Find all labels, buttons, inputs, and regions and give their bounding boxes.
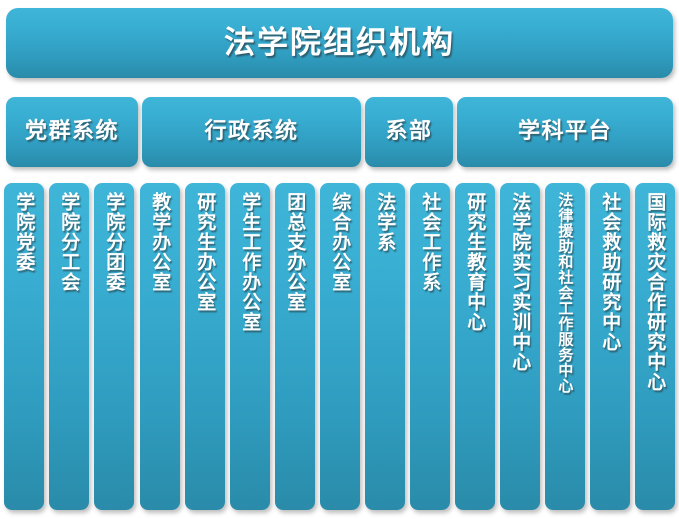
unit-column[interactable]: 学院分团委 [94,183,134,510]
unit-column[interactable]: 国际救灾合作研究中心 [635,183,675,510]
chart-title-box: 法学院组织机构 [6,8,673,78]
category-box-xingzheng[interactable]: 行政系统 [142,97,361,167]
unit-column[interactable]: 法律援助和社会工作服务中心 [545,183,585,510]
unit-label: 研究生教育中心 [465,192,486,332]
category-box-xibu[interactable]: 系部 [365,97,453,167]
unit-column[interactable]: 研究生办公室 [185,183,225,510]
unit-label: 团总支办公室 [285,192,306,312]
unit-label: 法学系 [375,192,396,252]
category-box-dangqun[interactable]: 党群系统 [6,97,138,167]
unit-column[interactable]: 团总支办公室 [275,183,315,510]
unit-label: 学生工作办公室 [240,192,261,332]
unit-label: 社会工作系 [420,192,441,292]
unit-column[interactable]: 社会工作系 [410,183,450,510]
category-label: 行政系统 [204,121,298,143]
unit-label: 法学院实习实训中心 [510,192,531,372]
unit-column[interactable]: 教学办公室 [140,183,180,510]
unit-column[interactable]: 社会救助研究中心 [590,183,630,510]
unit-label: 研究生办公室 [195,192,216,312]
unit-label: 社会救助研究中心 [600,192,621,352]
category-label: 党群系统 [25,121,119,143]
org-chart: 法学院组织机构 党群系统 行政系统 系部 学科平台 学院党委 学院分工会 学院分… [0,0,679,519]
unit-label: 学院分工会 [59,192,80,292]
category-label: 学科平台 [518,121,612,143]
unit-column[interactable]: 学院党委 [4,183,44,510]
unit-column[interactable]: 学院分工会 [49,183,89,510]
unit-column[interactable]: 综合办公室 [320,183,360,510]
unit-column[interactable]: 法学系 [365,183,405,510]
page-title: 法学院组织机构 [224,28,455,59]
unit-column[interactable]: 学生工作办公室 [230,183,270,510]
unit-label: 国际救灾合作研究中心 [645,192,666,392]
unit-column[interactable]: 法学院实习实训中心 [500,183,540,510]
category-box-xuekepingtai[interactable]: 学科平台 [457,97,673,167]
category-label: 系部 [385,121,432,143]
unit-column[interactable]: 研究生教育中心 [455,183,495,510]
unit-label: 教学办公室 [150,192,171,292]
unit-label: 学院党委 [14,192,35,272]
unit-label: 综合办公室 [330,192,351,292]
unit-label: 法律援助和社会工作服务中心 [557,192,574,394]
unit-label: 学院分团委 [104,192,125,292]
